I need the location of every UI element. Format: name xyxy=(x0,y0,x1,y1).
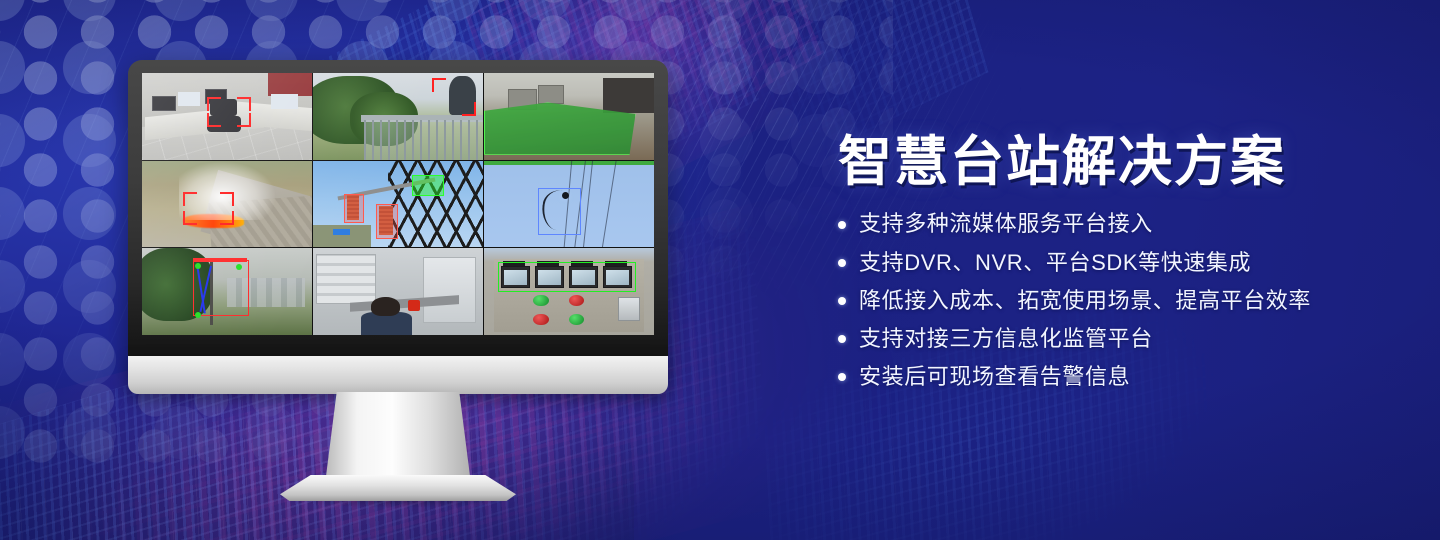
keypoint-bottom xyxy=(195,312,201,318)
list-item-label: 支持DVR、NVR、平台SDK等快速集成 xyxy=(859,251,1251,275)
monitor-stand-neck xyxy=(325,392,471,484)
equipment-rack xyxy=(316,254,376,305)
camera-grid xyxy=(142,73,654,335)
camera-panel-fire-smoke[interactable] xyxy=(142,161,312,248)
dot-marker-icon xyxy=(838,221,846,229)
dot-marker-icon xyxy=(838,297,846,305)
feature-list: 支持多种流媒体服务平台接入 支持DVR、NVR、平台SDK等快速集成 降低接入成… xyxy=(838,212,1398,389)
structure-dark xyxy=(603,78,654,113)
list-item: 安装后可现场查看告警信息 xyxy=(838,365,1398,389)
operator-head xyxy=(371,297,400,316)
camera-panel-control-room[interactable] xyxy=(142,73,312,160)
monitor-screen xyxy=(142,73,654,335)
indicator-green-1 xyxy=(533,295,548,306)
monitor-chin xyxy=(128,356,668,394)
fitting-detection-box xyxy=(412,175,445,196)
workstation-monitor-1 xyxy=(152,96,176,112)
monitor-stand-base xyxy=(280,475,516,501)
list-item: 支持多种流媒体服务平台接入 xyxy=(838,212,1398,236)
list-item: 降低接入成本、拓宽使用场景、提高平台效率 xyxy=(838,289,1398,313)
camera-panel-power-line[interactable] xyxy=(484,161,654,248)
camera-panel-equipment-room[interactable] xyxy=(313,248,483,335)
fence-mesh xyxy=(364,120,483,160)
label-chip xyxy=(333,229,350,235)
list-item: 支持对接三方信息化监管平台 xyxy=(838,327,1398,351)
camera-panel-perimeter-fence[interactable] xyxy=(313,73,483,160)
insulator-detection-box-2 xyxy=(376,204,398,239)
detection-bracket xyxy=(207,97,251,126)
power-wire-4 xyxy=(599,161,618,248)
fire-extinguisher xyxy=(408,300,420,310)
meter-row-detection-box xyxy=(498,262,636,292)
list-item: 支持DVR、NVR、平台SDK等快速集成 xyxy=(838,251,1398,275)
workstation-monitor-2 xyxy=(178,92,200,106)
camera-panel-transmission-tower[interactable] xyxy=(313,161,483,248)
green-strip xyxy=(484,161,654,165)
air-conditioner-cabinet xyxy=(423,257,476,323)
dot-marker-icon xyxy=(838,373,846,381)
equipment-box-2 xyxy=(538,85,564,104)
insulator-detection-box-1 xyxy=(344,194,365,224)
key-switch xyxy=(618,297,640,322)
camera-panel-utility-pole[interactable] xyxy=(142,248,312,335)
list-item-label: 支持对接三方信息化监管平台 xyxy=(859,327,1153,351)
camera-panel-control-cabinet[interactable] xyxy=(484,248,654,335)
desktop-monitor xyxy=(128,60,668,500)
workstation-monitor-4 xyxy=(271,94,298,110)
wall-panel xyxy=(268,73,312,96)
detection-bracket xyxy=(183,192,234,225)
camera-panel-green-zone[interactable] xyxy=(484,73,654,160)
list-item-label: 降低接入成本、拓宽使用场景、提高平台效率 xyxy=(859,289,1311,313)
dot-marker-icon xyxy=(838,259,846,267)
hero-copy: 智慧台站解决方案 支持多种流媒体服务平台接入 支持DVR、NVR、平台SDK等快… xyxy=(838,132,1398,403)
list-item-label: 安装后可现场查看告警信息 xyxy=(859,365,1130,389)
foreign-object-head xyxy=(562,192,569,199)
detection-bracket xyxy=(432,78,476,116)
banner-stage: 智慧台站解决方案 支持多种流媒体服务平台接入 支持DVR、NVR、平台SDK等快… xyxy=(0,0,1440,540)
monitor-bezel xyxy=(128,60,668,363)
keypoint-right xyxy=(236,264,242,270)
dot-marker-icon xyxy=(838,335,846,343)
keypoint-top xyxy=(195,263,201,269)
page-title: 智慧台站解决方案 xyxy=(838,132,1398,192)
list-item-label: 支持多种流媒体服务平台接入 xyxy=(859,212,1153,236)
